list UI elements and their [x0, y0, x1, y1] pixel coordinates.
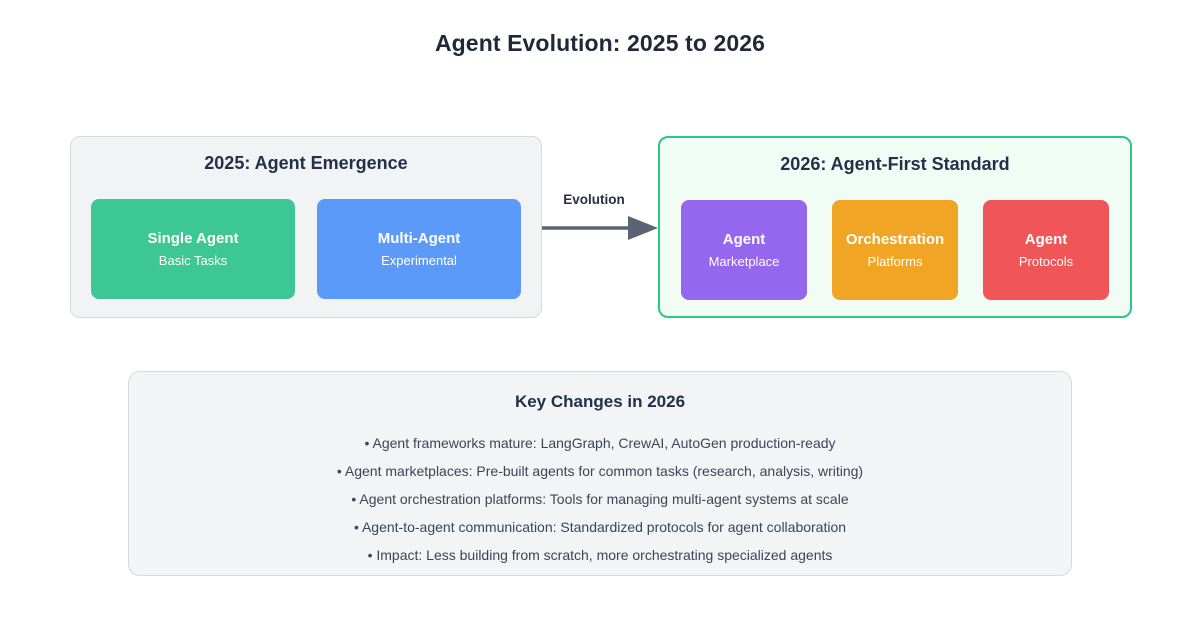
panel-2025-heading: 2025: Agent Emergence: [71, 153, 541, 174]
connector-label: Evolution: [540, 192, 648, 207]
arrow-right-icon: [540, 214, 664, 242]
key-changes-list: • Agent frameworks mature: LangGraph, Cr…: [129, 429, 1071, 569]
card-single-agent[interactable]: Single Agent Basic Tasks: [91, 199, 295, 299]
list-item: • Agent-to-agent communication: Standard…: [129, 513, 1071, 541]
card-subtitle: Basic Tasks: [159, 254, 227, 268]
card-agent-protocols[interactable]: Agent Protocols: [983, 200, 1109, 300]
list-item: • Agent orchestration platforms: Tools f…: [129, 485, 1071, 513]
panel-2026-agent-first-standard: 2026: Agent-First Standard Agent Marketp…: [658, 136, 1132, 318]
panel-2026-card-group: Agent Marketplace Orchestration Platform…: [660, 200, 1130, 300]
list-item: • Impact: Less building from scratch, mo…: [129, 541, 1071, 569]
card-title: Orchestration: [846, 232, 944, 248]
key-changes-heading: Key Changes in 2026: [129, 392, 1071, 412]
page-title: Agent Evolution: 2025 to 2026: [0, 30, 1200, 57]
list-item: • Agent frameworks mature: LangGraph, Cr…: [129, 429, 1071, 457]
card-subtitle: Marketplace: [709, 255, 780, 269]
card-title: Agent: [723, 232, 766, 248]
card-subtitle: Protocols: [1019, 255, 1073, 269]
panel-2025-card-group: Single Agent Basic Tasks Multi-Agent Exp…: [71, 199, 541, 299]
card-title: Agent: [1025, 232, 1068, 248]
card-agent-marketplace[interactable]: Agent Marketplace: [681, 200, 807, 300]
panel-2026-heading: 2026: Agent-First Standard: [660, 154, 1130, 175]
card-multi-agent[interactable]: Multi-Agent Experimental: [317, 199, 521, 299]
evolution-connector: Evolution: [540, 192, 664, 252]
card-title: Single Agent: [147, 231, 238, 247]
panel-2025-agent-emergence: 2025: Agent Emergence Single Agent Basic…: [70, 136, 542, 318]
card-subtitle: Platforms: [868, 255, 923, 269]
list-item: • Agent marketplaces: Pre-built agents f…: [129, 457, 1071, 485]
card-title: Multi-Agent: [378, 231, 460, 247]
key-changes-box: Key Changes in 2026 • Agent frameworks m…: [128, 371, 1072, 576]
card-orchestration-platforms[interactable]: Orchestration Platforms: [832, 200, 958, 300]
card-subtitle: Experimental: [381, 254, 457, 268]
